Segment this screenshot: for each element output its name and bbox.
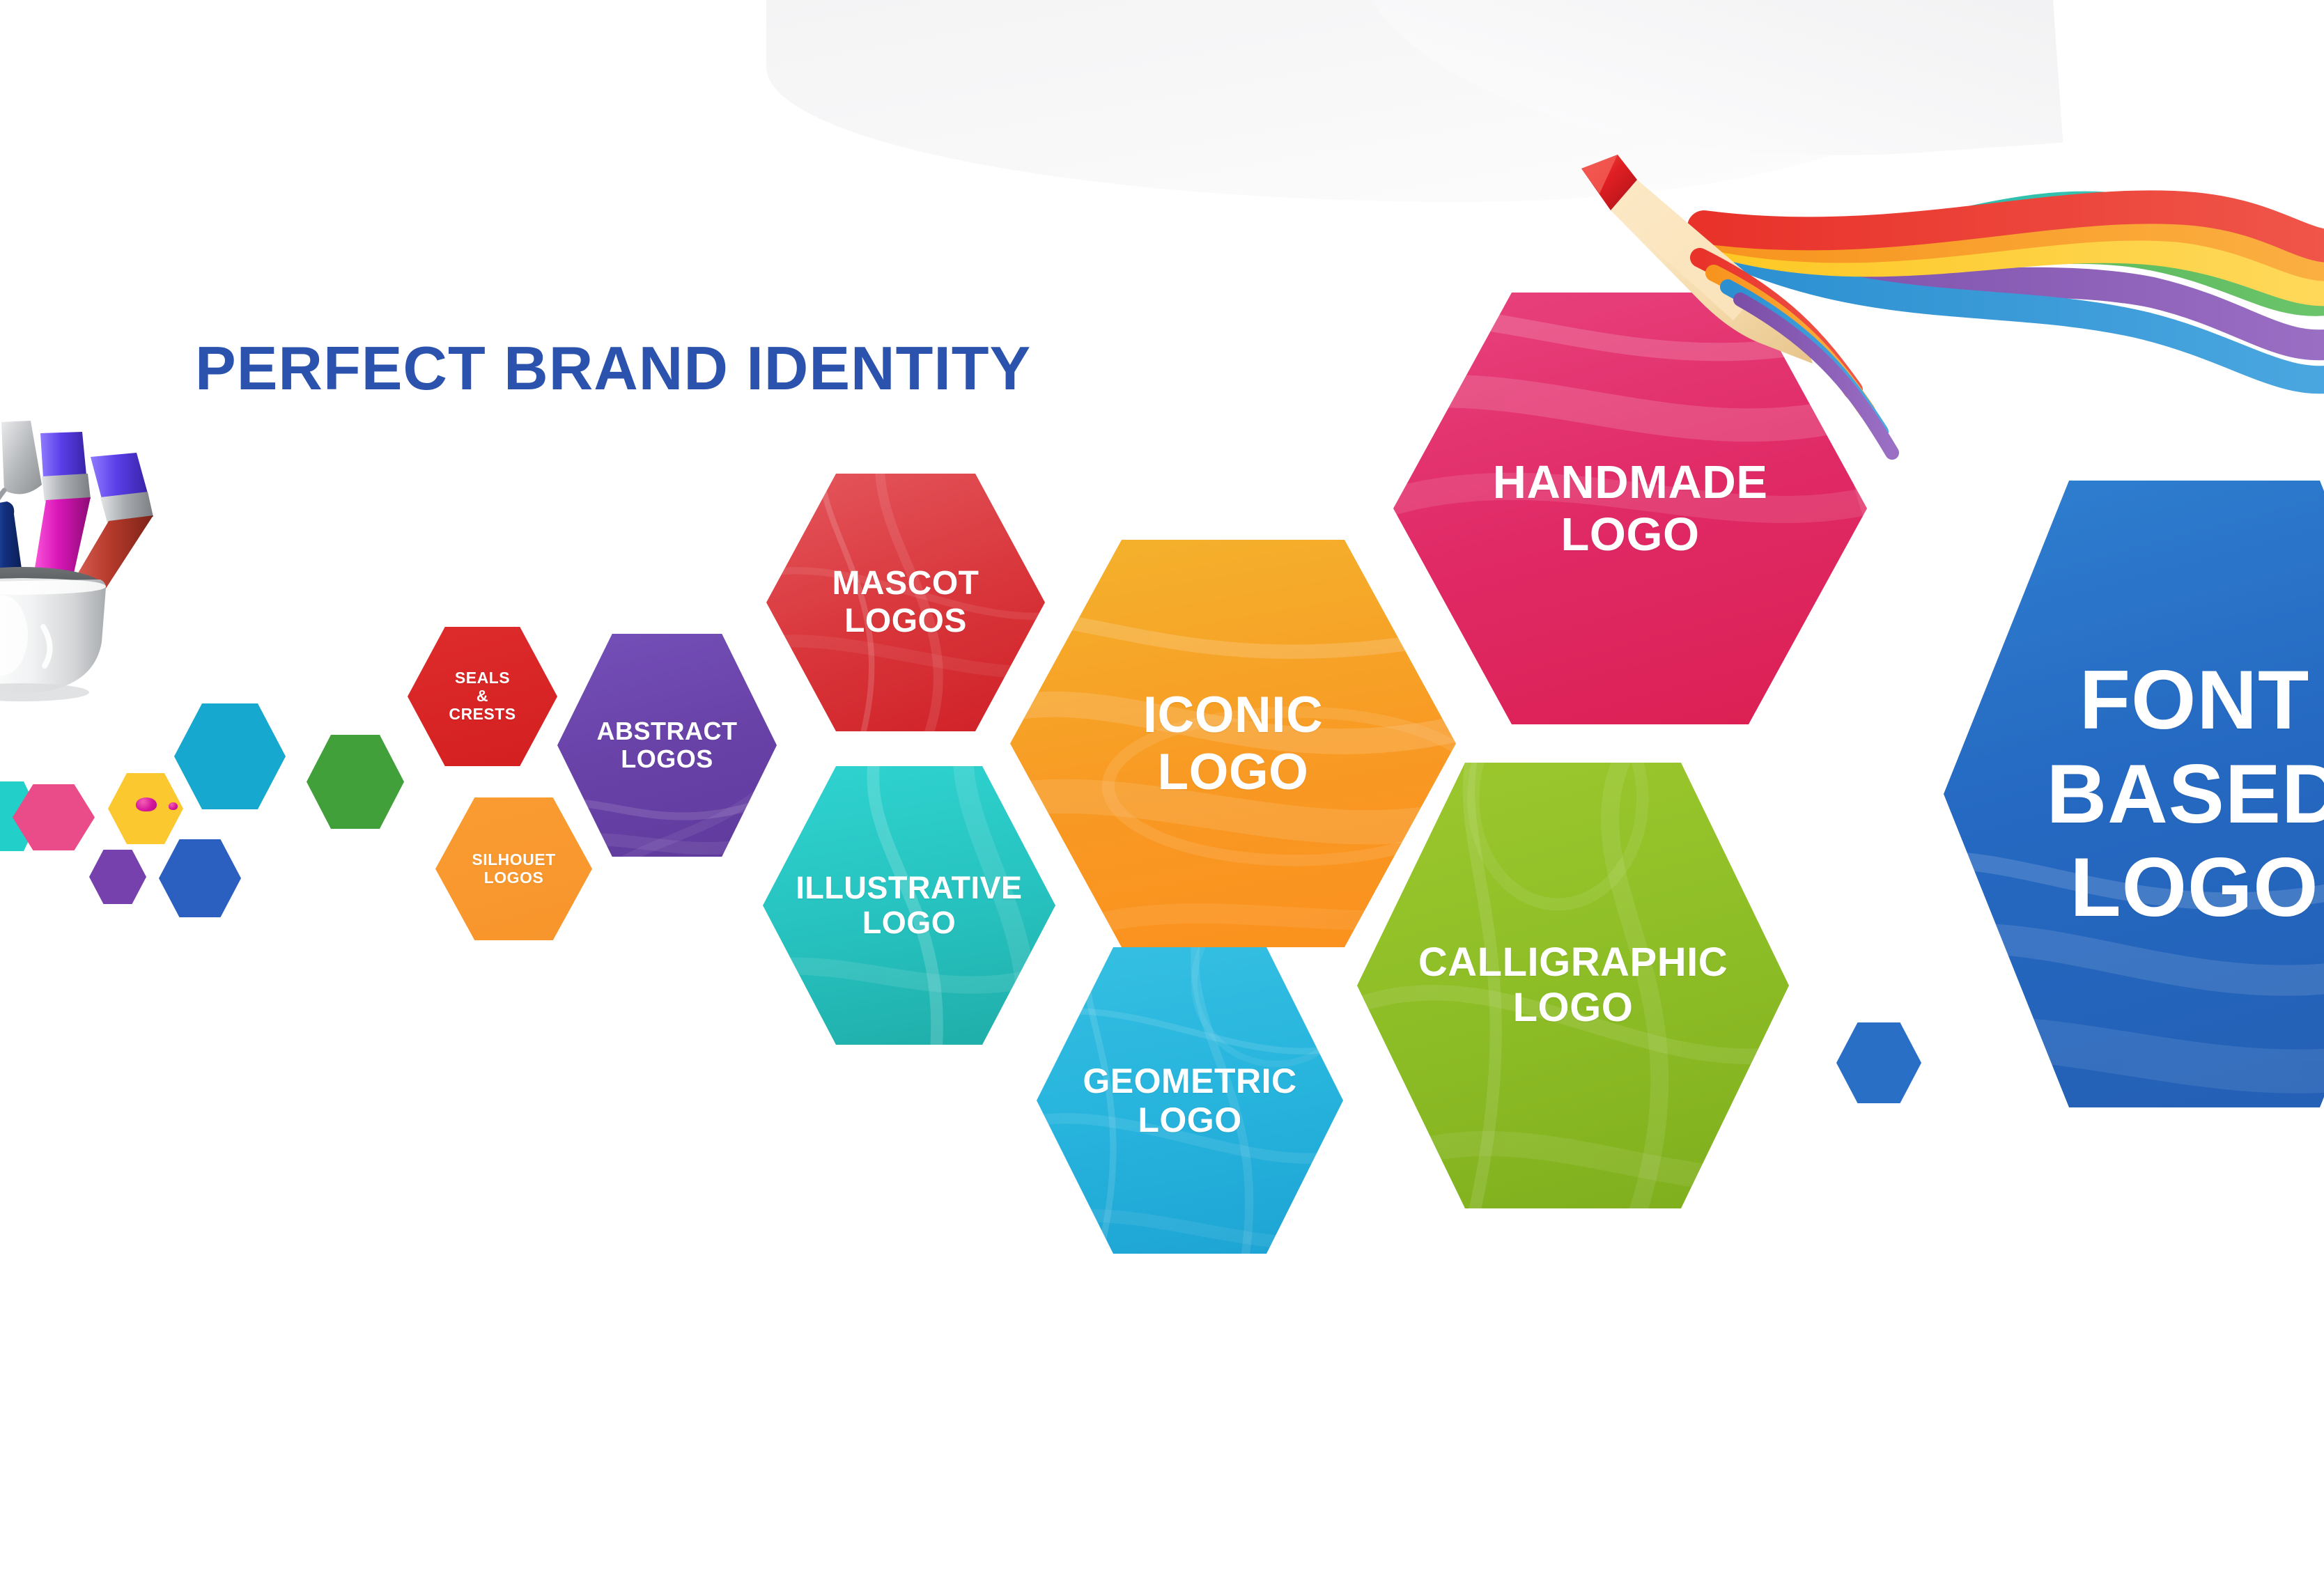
hexagon-font-based-logo[interactable]: FONT BASED LOGO bbox=[1944, 481, 2324, 1107]
decorative-hexagon-blue-right bbox=[1836, 1022, 1921, 1103]
decorative-hexagon-purple bbox=[89, 850, 146, 904]
hexagon-calligraphic-logo[interactable]: CALLIGRAPHIC LOGO bbox=[1357, 763, 1789, 1208]
hexagon-iconic-logo[interactable]: ICONIC LOGO bbox=[1010, 540, 1456, 947]
hexagon-abstract-logos[interactable]: ABSTRACT LOGOS bbox=[557, 634, 777, 857]
hexagon-silhouet-logos[interactable]: SILHOUET LOGOS bbox=[435, 797, 592, 940]
hexagon-seals-and-crests-label: SEALS & CRESTS bbox=[440, 669, 525, 723]
infographic-canvas: PERFECT BRAND IDENTITY SEALS & CRESTS SI… bbox=[0, 0, 2324, 1588]
hexagon-illustrative-logo-label: ILLUSTRATIVE LOGO bbox=[778, 871, 1040, 941]
hexagon-calligraphic-logo-label: CALLIGRAPHIC LOGO bbox=[1393, 940, 1754, 1031]
paint-drop-large bbox=[136, 797, 157, 811]
page-title: PERFECT BRAND IDENTITY bbox=[195, 333, 1031, 404]
hexagon-illustrative-logo[interactable]: ILLUSTRATIVE LOGO bbox=[763, 766, 1055, 1045]
hexagon-abstract-logos-label: ABSTRACT LOGOS bbox=[584, 717, 751, 774]
hexagon-seals-and-crests[interactable]: SEALS & CRESTS bbox=[408, 627, 557, 766]
hexagon-geometric-logo-label: GEOMETRIC LOGO bbox=[1064, 1061, 1315, 1139]
hexagon-iconic-logo-label: ICONIC LOGO bbox=[1116, 687, 1349, 801]
decorative-hexagon-blue bbox=[159, 839, 241, 917]
paint-drop-small bbox=[169, 802, 178, 810]
hexagon-mascot-logos[interactable]: MASCOT LOGOS bbox=[766, 474, 1045, 731]
hexagon-geometric-logo[interactable]: GEOMETRIC LOGO bbox=[1037, 947, 1343, 1254]
hexagon-mascot-logos-label: MASCOT LOGOS bbox=[816, 565, 996, 640]
decorative-hexagon-green bbox=[307, 735, 404, 829]
hexagon-silhouet-logos-label: SILHOUET LOGOS bbox=[463, 851, 565, 887]
pencil-ribbon-illustration bbox=[1554, 91, 2324, 481]
hexagon-font-based-logo-label: FONT BASED LOGO bbox=[2016, 653, 2324, 934]
